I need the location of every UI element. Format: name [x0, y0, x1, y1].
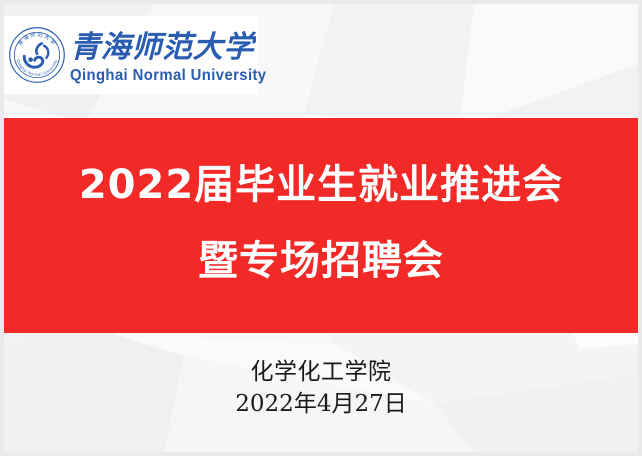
university-name-cn-text: 青海师范大学 [70, 30, 256, 65]
title-block: 2022届毕业生就业推进会 暨专场招聘会 [4, 118, 638, 333]
university-logo: 青海师范大学 Qinghai Normal University 青海师范大学 … [4, 16, 258, 94]
university-name-cn-calligraphy: 青海师范大学 [70, 26, 256, 66]
footer-block: 化学化工学院 2022年4月27日 [4, 356, 638, 420]
logo-text-block: 青海师范大学 Qinghai Normal University [70, 26, 275, 85]
slide-page: 青海师范大学 Qinghai Normal University 青海师范大学 … [4, 4, 638, 452]
footer-organizer: 化学化工学院 [4, 356, 638, 388]
university-name-en: Qinghai Normal University [70, 67, 266, 85]
title-line-1: 2022届毕业生就业推进会 [79, 158, 563, 212]
title-line-2: 暨专场招聘会 [198, 234, 444, 288]
university-emblem-icon: 青海师范大学 Qinghai Normal University [8, 26, 66, 84]
footer-date: 2022年4月27日 [4, 388, 638, 420]
presentation-slide: 青海师范大学 Qinghai Normal University 青海师范大学 … [0, 0, 642, 456]
